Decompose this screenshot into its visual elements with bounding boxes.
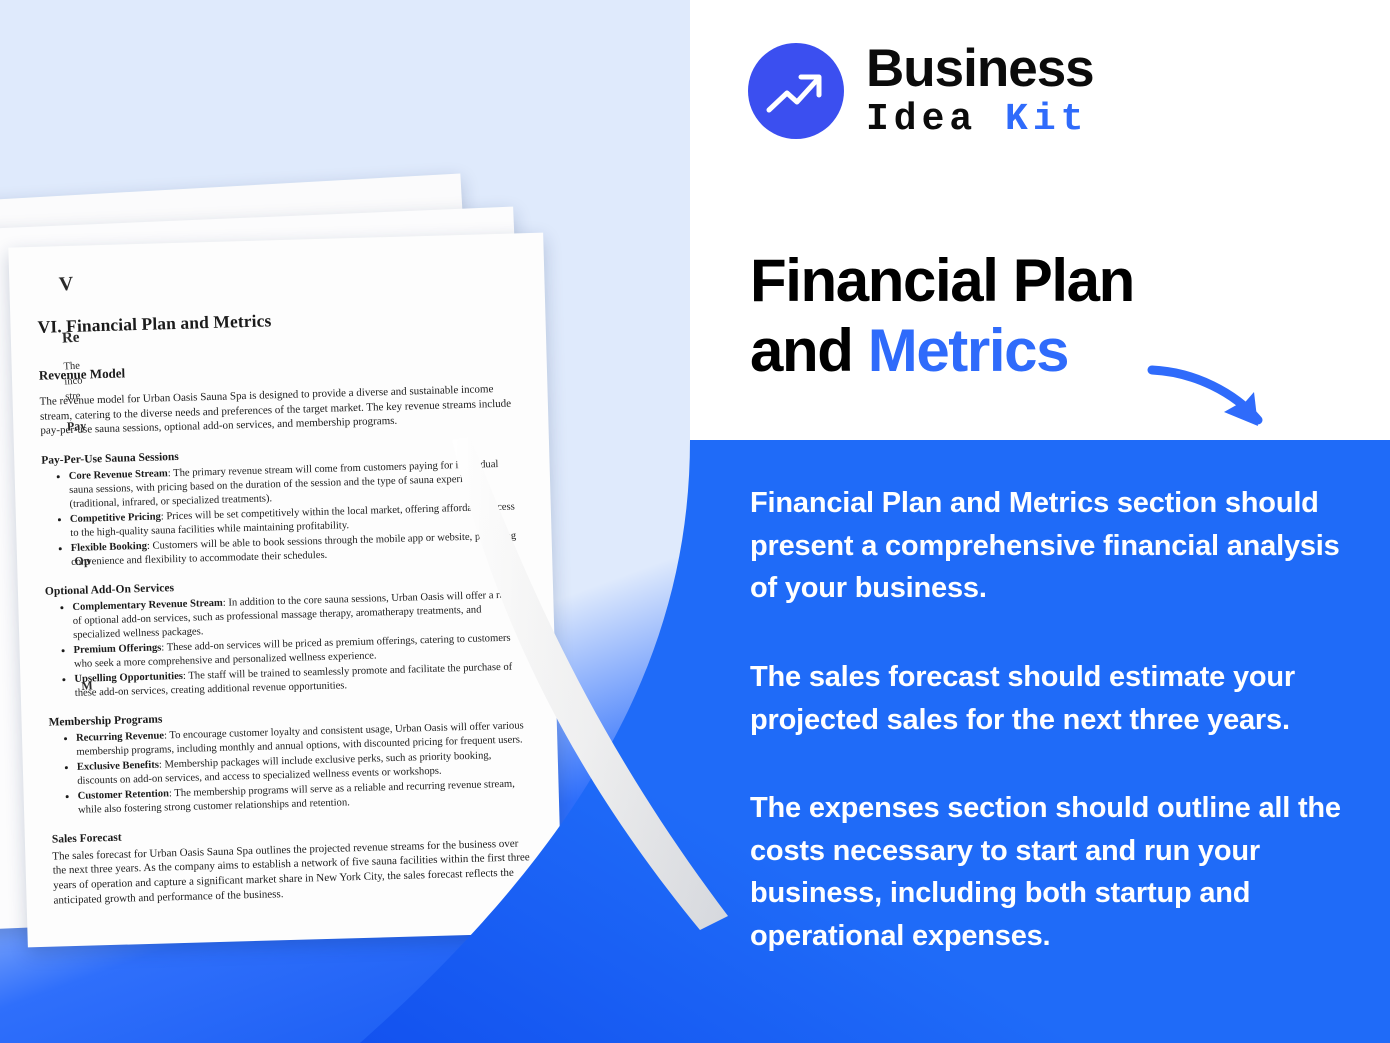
brand-wordmark: Business Idea Kit — [866, 42, 1094, 139]
document-group-list-3: Recurring Revenue: To encourage customer… — [49, 719, 533, 818]
list-item-term: Upselling Opportunities — [74, 671, 183, 685]
slide-canvas: VI. Financial Plan and Metrics Revenue M… — [0, 0, 1390, 1043]
list-item-term: Flexible Booking — [71, 541, 148, 554]
brand-idea-text: Idea — [866, 98, 977, 141]
document-page-stack: VI. Financial Plan and Metrics Revenue M… — [0, 0, 690, 1043]
document-content: VI. Financial Plan and Metrics Revenue M… — [37, 303, 536, 924]
document-forecast-paragraph: The sales forecast for Urban Oasis Sauna… — [52, 836, 535, 908]
description-paragraph-1: Financial Plan and Metrics section shoul… — [750, 482, 1350, 610]
list-item-term: Competitive Pricing — [70, 512, 161, 526]
page-title-line-1: Financial Plan — [750, 246, 1370, 316]
description-paragraphs: Financial Plan and Metrics section shoul… — [750, 482, 1350, 958]
document-group-list-1: Core Revenue Stream: The primary revenue… — [42, 458, 527, 571]
growth-chart-arrow-icon — [748, 43, 844, 139]
list-item-term: Customer Retention — [78, 788, 170, 802]
brand-name-line1: Business — [866, 42, 1094, 95]
brand-name-line2: Idea Kit — [866, 101, 1094, 139]
document-sheet-front: VI. Financial Plan and Metrics Revenue M… — [8, 233, 562, 948]
list-item-term: Exclusive Benefits — [77, 759, 159, 772]
description-paragraph-3: The expenses section should outline all … — [750, 787, 1350, 958]
curved-down-right-arrow-icon — [1140, 348, 1310, 458]
list-item-term: Premium Offerings — [73, 642, 161, 655]
page-title-accent: Metrics — [868, 317, 1068, 384]
document-title: VI. Financial Plan and Metrics — [37, 303, 519, 337]
page-title-prefix: and — [750, 317, 868, 384]
list-item-term: Core Revenue Stream — [69, 468, 168, 482]
brand-kit-text: Kit — [1005, 98, 1088, 141]
brand-logo: Business Idea Kit — [748, 42, 1094, 139]
document-group-list-2: Complementary Revenue Stream: In additio… — [45, 588, 530, 701]
document-intro-paragraph: The revenue model for Urban Oasis Sauna … — [39, 381, 522, 439]
list-item-term: Recurring Revenue — [76, 730, 164, 743]
description-paragraph-2: The sales forecast should estimate your … — [750, 656, 1350, 741]
document-section-heading: Revenue Model — [39, 354, 521, 383]
list-item-term: Complementary Revenue Stream — [72, 598, 223, 613]
